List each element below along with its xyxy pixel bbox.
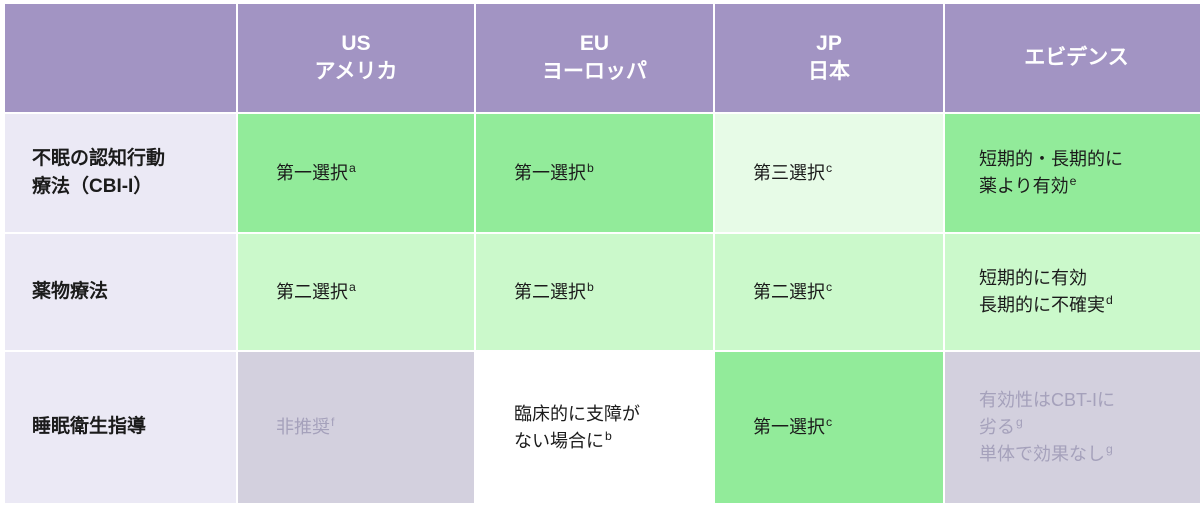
- evidence-line1: 短期的に有効: [979, 265, 1198, 292]
- cell-cbti-evidence: 短期的・長期的に 薬より有効e: [945, 114, 1200, 232]
- footnote-marker: c: [825, 161, 832, 175]
- header-cell-us: US アメリカ: [238, 4, 474, 112]
- row-label-cbti: 不眠の認知行動 療法（CBI-I）: [5, 114, 236, 232]
- cell-text: 第二選択: [514, 282, 586, 302]
- header-us-native: アメリカ: [238, 58, 474, 86]
- footnote-marker: a: [348, 280, 356, 294]
- cell-text: 第一選択: [276, 163, 348, 183]
- cell-cbti-eu: 第一選択b: [476, 114, 713, 232]
- footnote-marker: g: [1015, 415, 1023, 429]
- evidence-line1: 短期的・長期的に: [979, 146, 1198, 173]
- header-eu-code: EU: [476, 30, 713, 58]
- header-jp-code: JP: [715, 30, 943, 58]
- evidence-line3: 単体で効果なしg: [979, 441, 1198, 468]
- treatment-comparison-table-container: US アメリカ EU ヨーロッパ JP 日本 エビデンス: [0, 0, 1200, 501]
- row-label-line2: 療法（CBI-I）: [32, 173, 236, 202]
- cell-pharmacotherapy-eu: 第二選択b: [476, 234, 713, 350]
- cell-pharmacotherapy-us: 第二選択a: [238, 234, 474, 350]
- cell-text: 非推奨: [276, 417, 330, 437]
- cell-text: 第二選択: [753, 282, 825, 302]
- evidence-line1: 有効性はCBT-Iに: [979, 387, 1198, 414]
- table-header: US アメリカ EU ヨーロッパ JP 日本 エビデンス: [5, 4, 1200, 112]
- cell-text-line2-text: ない場合に: [514, 431, 604, 451]
- footnote-marker: d: [1105, 293, 1113, 307]
- cell-text-line1: 臨床的に支障が: [514, 401, 703, 428]
- cell-cbti-jp: 第三選択c: [715, 114, 943, 232]
- footnote-marker: f: [330, 415, 334, 429]
- cell-sleep-hygiene-us: 非推奨f: [238, 352, 474, 503]
- table-body: 不眠の認知行動 療法（CBI-I） 第一選択a 第一選択b 第三選択c 短期的・…: [5, 114, 1200, 503]
- evidence-line2: 劣るg: [979, 414, 1198, 441]
- row-label-line1: 睡眠衛生指導: [32, 413, 236, 442]
- row-label-line1: 不眠の認知行動: [32, 145, 236, 174]
- row-label-sleep-hygiene: 睡眠衛生指導: [5, 352, 236, 503]
- header-jp-native: 日本: [715, 58, 943, 86]
- footnote-marker: e: [1069, 174, 1077, 188]
- table-row: 不眠の認知行動 療法（CBI-I） 第一選択a 第一選択b 第三選択c 短期的・…: [5, 114, 1200, 232]
- footnote-marker: a: [348, 161, 356, 175]
- evidence-line2: 長期的に不確実d: [979, 292, 1198, 319]
- cell-sleep-hygiene-jp: 第一選択c: [715, 352, 943, 503]
- row-label-pharmacotherapy: 薬物療法: [5, 234, 236, 350]
- footnote-marker: b: [586, 161, 594, 175]
- cell-pharmacotherapy-evidence: 短期的に有効 長期的に不確実d: [945, 234, 1200, 350]
- cell-cbti-us: 第一選択a: [238, 114, 474, 232]
- footnote-marker: c: [825, 415, 832, 429]
- cell-sleep-hygiene-eu: 臨床的に支障が ない場合にb: [476, 352, 713, 503]
- footnote-marker: g: [1105, 442, 1113, 456]
- cell-text: 第二選択: [276, 282, 348, 302]
- row-label-line1: 薬物療法: [32, 278, 236, 307]
- cell-text: 第三選択: [753, 163, 825, 183]
- evidence-line2-text: 薬より有効: [979, 176, 1069, 196]
- footnote-marker: b: [586, 280, 594, 294]
- header-eu-native: ヨーロッパ: [476, 58, 713, 86]
- treatment-comparison-table: US アメリカ EU ヨーロッパ JP 日本 エビデンス: [3, 2, 1200, 505]
- cell-pharmacotherapy-jp: 第二選択c: [715, 234, 943, 350]
- header-cell-eu: EU ヨーロッパ: [476, 4, 713, 112]
- evidence-line2-text: 長期的に不確実: [979, 295, 1105, 315]
- footnote-marker: c: [825, 280, 832, 294]
- header-cell-jp: JP 日本: [715, 4, 943, 112]
- cell-sleep-hygiene-evidence: 有効性はCBT-Iに 劣るg 単体で効果なしg: [945, 352, 1200, 503]
- header-us-code: US: [238, 30, 474, 58]
- header-row: US アメリカ EU ヨーロッパ JP 日本 エビデンス: [5, 4, 1200, 112]
- footnote-marker: b: [604, 429, 612, 443]
- cell-text: 第一選択: [753, 417, 825, 437]
- header-cell-blank: [5, 4, 236, 112]
- evidence-line3-text: 単体で効果なし: [979, 444, 1105, 464]
- evidence-line2-text: 劣る: [979, 417, 1015, 437]
- evidence-line2: 薬より有効e: [979, 173, 1198, 200]
- header-cell-evidence: エビデンス: [945, 4, 1200, 112]
- table-row: 睡眠衛生指導 非推奨f 臨床的に支障が ない場合にb 第一選択c 有効性はCBT…: [5, 352, 1200, 503]
- cell-text-line2: ない場合にb: [514, 428, 703, 455]
- header-evidence-native: エビデンス: [945, 44, 1200, 72]
- table-row: 薬物療法 第二選択a 第二選択b 第二選択c 短期的に有効 長期的に不確実d: [5, 234, 1200, 350]
- cell-text: 第一選択: [514, 163, 586, 183]
